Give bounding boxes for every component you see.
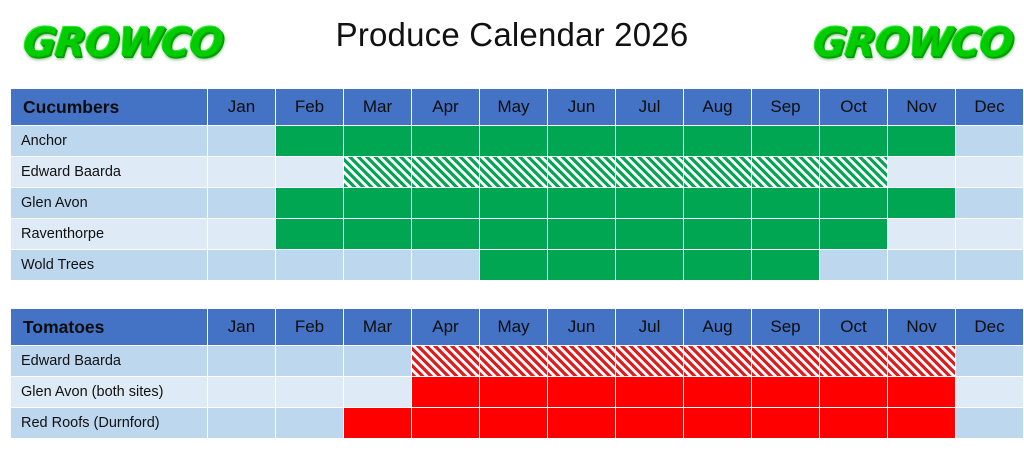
- table-row: Red Roofs (Durnford): [11, 408, 1023, 438]
- cell-tomatoes-jan: [208, 377, 275, 407]
- table-title-tomatoes: Tomatoes: [11, 309, 207, 345]
- table-row: Glen Avon (both sites): [11, 377, 1023, 407]
- table-row: Raventhorpe: [11, 219, 1023, 249]
- table-row: Edward Baarda: [11, 157, 1023, 187]
- month-header-jan: Jan: [208, 89, 275, 125]
- cell-cucumbers-sep: [752, 250, 819, 280]
- cell-cucumbers-jun: [548, 188, 615, 218]
- cell-tomatoes-apr: [412, 377, 479, 407]
- cell-cucumbers-jan: [208, 219, 275, 249]
- row-label: Glen Avon (both sites): [11, 377, 207, 407]
- cell-tomatoes-jan: [208, 408, 275, 438]
- cell-cucumbers-oct: [820, 219, 887, 249]
- cell-tomatoes-mar: [344, 408, 411, 438]
- cell-tomatoes-may: [480, 408, 547, 438]
- cell-cucumbers-jul: [616, 188, 683, 218]
- month-header-sep: Sep: [752, 309, 819, 345]
- cell-cucumbers-apr: [412, 250, 479, 280]
- page-title: Produce Calendar 2026: [262, 16, 762, 54]
- row-label: Glen Avon: [11, 188, 207, 218]
- cell-tomatoes-nov: [888, 408, 955, 438]
- cell-cucumbers-oct: [820, 157, 887, 187]
- cell-tomatoes-aug: [684, 408, 751, 438]
- cell-tomatoes-dec: [956, 377, 1023, 407]
- cell-cucumbers-jul: [616, 126, 683, 156]
- cell-cucumbers-dec: [956, 250, 1023, 280]
- cell-cucumbers-apr: [412, 126, 479, 156]
- row-label: Anchor: [11, 126, 207, 156]
- cell-cucumbers-jun: [548, 157, 615, 187]
- table-row: Edward Baarda: [11, 346, 1023, 376]
- cell-cucumbers-may: [480, 157, 547, 187]
- month-header-sep: Sep: [752, 89, 819, 125]
- cell-cucumbers-aug: [684, 219, 751, 249]
- cell-tomatoes-jun: [548, 408, 615, 438]
- page-header: GROWCO Produce Calendar 2026 GROWCO: [0, 0, 1024, 86]
- cell-cucumbers-may: [480, 250, 547, 280]
- calendar-table-cucumbers: CucumbersJanFebMarAprMayJunJulAugSepOctN…: [10, 88, 1024, 281]
- cell-tomatoes-feb: [276, 346, 343, 376]
- table-header-cucumbers: CucumbersJanFebMarAprMayJunJulAugSepOctN…: [11, 89, 1023, 125]
- cell-tomatoes-apr: [412, 346, 479, 376]
- month-header-jun: Jun: [548, 89, 615, 125]
- month-header-jul: Jul: [616, 89, 683, 125]
- cell-tomatoes-jul: [616, 408, 683, 438]
- cell-cucumbers-mar: [344, 126, 411, 156]
- cell-tomatoes-apr: [412, 408, 479, 438]
- cell-cucumbers-sep: [752, 126, 819, 156]
- cell-cucumbers-aug: [684, 250, 751, 280]
- cell-tomatoes-jul: [616, 377, 683, 407]
- cell-cucumbers-feb: [276, 250, 343, 280]
- cell-cucumbers-jun: [548, 126, 615, 156]
- header-row: CucumbersJanFebMarAprMayJunJulAugSepOctN…: [11, 89, 1023, 125]
- cell-tomatoes-feb: [276, 408, 343, 438]
- cell-tomatoes-mar: [344, 346, 411, 376]
- month-header-apr: Apr: [412, 89, 479, 125]
- cell-cucumbers-jan: [208, 157, 275, 187]
- cell-cucumbers-oct: [820, 188, 887, 218]
- cell-tomatoes-sep: [752, 346, 819, 376]
- month-header-nov: Nov: [888, 89, 955, 125]
- cell-cucumbers-apr: [412, 219, 479, 249]
- cell-cucumbers-oct: [820, 250, 887, 280]
- cell-tomatoes-oct: [820, 346, 887, 376]
- cell-tomatoes-nov: [888, 377, 955, 407]
- calendar-table-tomatoes: TomatoesJanFebMarAprMayJunJulAugSepOctNo…: [10, 308, 1024, 439]
- growco-logo-right: GROWCO: [805, 12, 1022, 74]
- cell-tomatoes-sep: [752, 408, 819, 438]
- cell-tomatoes-nov: [888, 346, 955, 376]
- table-row: Wold Trees: [11, 250, 1023, 280]
- cell-tomatoes-jan: [208, 346, 275, 376]
- month-header-dec: Dec: [956, 89, 1023, 125]
- cell-cucumbers-feb: [276, 157, 343, 187]
- cell-tomatoes-dec: [956, 346, 1023, 376]
- row-label: Edward Baarda: [11, 157, 207, 187]
- cell-cucumbers-nov: [888, 219, 955, 249]
- cell-cucumbers-dec: [956, 157, 1023, 187]
- cell-tomatoes-jun: [548, 377, 615, 407]
- growco-logo-left: GROWCO: [15, 12, 232, 74]
- month-header-mar: Mar: [344, 89, 411, 125]
- cell-tomatoes-oct: [820, 377, 887, 407]
- cell-cucumbers-jul: [616, 219, 683, 249]
- header-row: TomatoesJanFebMarAprMayJunJulAugSepOctNo…: [11, 309, 1023, 345]
- month-header-dec: Dec: [956, 309, 1023, 345]
- cell-cucumbers-aug: [684, 126, 751, 156]
- table-title-cucumbers: Cucumbers: [11, 89, 207, 125]
- cell-tomatoes-mar: [344, 377, 411, 407]
- cell-tomatoes-dec: [956, 408, 1023, 438]
- cell-cucumbers-apr: [412, 188, 479, 218]
- cell-cucumbers-apr: [412, 157, 479, 187]
- cell-cucumbers-feb: [276, 219, 343, 249]
- month-header-jan: Jan: [208, 309, 275, 345]
- month-header-oct: Oct: [820, 309, 887, 345]
- cell-cucumbers-jan: [208, 188, 275, 218]
- cell-cucumbers-jan: [208, 250, 275, 280]
- cell-cucumbers-may: [480, 188, 547, 218]
- row-label: Raventhorpe: [11, 219, 207, 249]
- table-header-tomatoes: TomatoesJanFebMarAprMayJunJulAugSepOctNo…: [11, 309, 1023, 345]
- cell-tomatoes-jul: [616, 346, 683, 376]
- month-header-may: May: [480, 309, 547, 345]
- cell-cucumbers-jan: [208, 126, 275, 156]
- cell-cucumbers-jul: [616, 157, 683, 187]
- cell-cucumbers-sep: [752, 219, 819, 249]
- cell-cucumbers-aug: [684, 157, 751, 187]
- cell-cucumbers-jun: [548, 250, 615, 280]
- cell-cucumbers-nov: [888, 126, 955, 156]
- month-header-jul: Jul: [616, 309, 683, 345]
- row-label: Edward Baarda: [11, 346, 207, 376]
- table-body-tomatoes: Edward BaardaGlen Avon (both sites)Red R…: [11, 346, 1023, 438]
- month-header-nov: Nov: [888, 309, 955, 345]
- cell-tomatoes-may: [480, 377, 547, 407]
- month-header-jun: Jun: [548, 309, 615, 345]
- cell-cucumbers-mar: [344, 188, 411, 218]
- cell-cucumbers-sep: [752, 188, 819, 218]
- row-label: Wold Trees: [11, 250, 207, 280]
- cell-cucumbers-mar: [344, 157, 411, 187]
- cell-cucumbers-nov: [888, 188, 955, 218]
- month-header-aug: Aug: [684, 89, 751, 125]
- cell-cucumbers-may: [480, 126, 547, 156]
- cell-cucumbers-nov: [888, 250, 955, 280]
- cell-cucumbers-dec: [956, 219, 1023, 249]
- row-label: Red Roofs (Durnford): [11, 408, 207, 438]
- cell-tomatoes-oct: [820, 408, 887, 438]
- cell-cucumbers-nov: [888, 157, 955, 187]
- cell-cucumbers-jul: [616, 250, 683, 280]
- cell-tomatoes-feb: [276, 377, 343, 407]
- month-header-feb: Feb: [276, 309, 343, 345]
- month-header-may: May: [480, 89, 547, 125]
- cell-tomatoes-aug: [684, 377, 751, 407]
- month-header-mar: Mar: [344, 309, 411, 345]
- table-row: Glen Avon: [11, 188, 1023, 218]
- cell-cucumbers-feb: [276, 188, 343, 218]
- cell-tomatoes-may: [480, 346, 547, 376]
- cell-cucumbers-aug: [684, 188, 751, 218]
- cell-cucumbers-sep: [752, 157, 819, 187]
- table-body-cucumbers: AnchorEdward BaardaGlen AvonRaventhorpeW…: [11, 126, 1023, 280]
- month-header-apr: Apr: [412, 309, 479, 345]
- month-header-feb: Feb: [276, 89, 343, 125]
- cell-cucumbers-oct: [820, 126, 887, 156]
- cell-cucumbers-dec: [956, 126, 1023, 156]
- cell-cucumbers-may: [480, 219, 547, 249]
- month-header-aug: Aug: [684, 309, 751, 345]
- table-row: Anchor: [11, 126, 1023, 156]
- cell-tomatoes-sep: [752, 377, 819, 407]
- cell-tomatoes-aug: [684, 346, 751, 376]
- cell-cucumbers-jun: [548, 219, 615, 249]
- cell-cucumbers-mar: [344, 250, 411, 280]
- cell-cucumbers-feb: [276, 126, 343, 156]
- cell-tomatoes-jun: [548, 346, 615, 376]
- cell-cucumbers-dec: [956, 188, 1023, 218]
- cell-cucumbers-mar: [344, 219, 411, 249]
- month-header-oct: Oct: [820, 89, 887, 125]
